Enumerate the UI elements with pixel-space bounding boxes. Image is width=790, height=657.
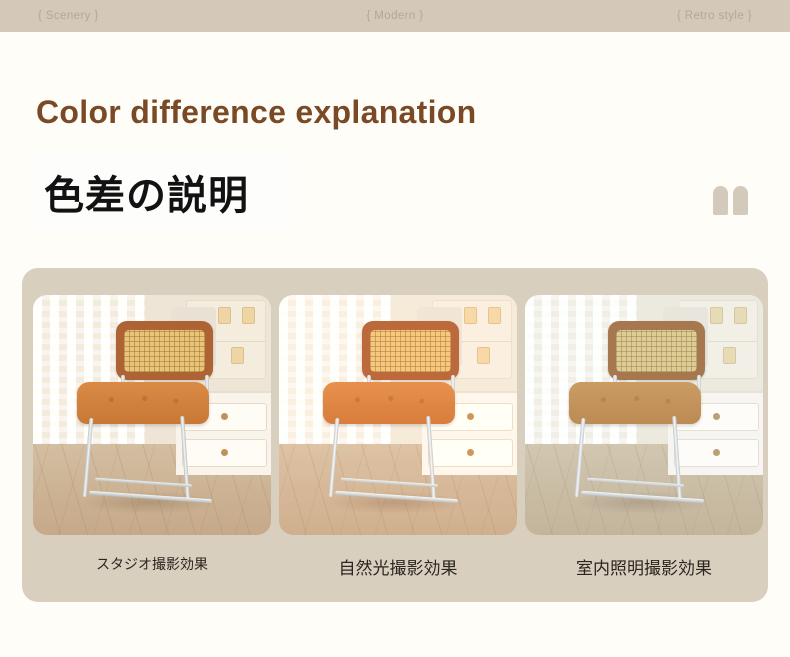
product-photo-studio[interactable] bbox=[33, 295, 271, 535]
product-photo-indoor-lighting[interactable] bbox=[525, 295, 763, 535]
photo-caption-natural-light: 自然光撮影効果 bbox=[279, 554, 517, 579]
product-chair bbox=[73, 321, 230, 518]
page-title-japanese: 色差の説明 bbox=[44, 163, 249, 221]
room-scene-illustration bbox=[525, 295, 763, 535]
scene-jar bbox=[231, 347, 244, 364]
product-chair bbox=[319, 321, 476, 518]
scene-jar bbox=[242, 307, 255, 324]
chair-rail-upper bbox=[587, 477, 684, 487]
chair-back-frame bbox=[362, 321, 459, 380]
chair-back-frame bbox=[116, 321, 213, 380]
comparison-item-studio: スタジオ撮影効果 bbox=[33, 295, 271, 579]
scene-jar bbox=[477, 347, 490, 364]
page-title-english: Color difference explanation bbox=[36, 94, 476, 131]
scene-jar bbox=[734, 307, 747, 324]
quote-mark-icon bbox=[713, 186, 748, 215]
top-category-scenery[interactable]: { Scenery } bbox=[38, 10, 99, 22]
top-category-bar: { Scenery } { Modern } { Retro style } bbox=[0, 0, 790, 32]
chair-leg-front bbox=[575, 418, 586, 497]
scene-jar bbox=[723, 347, 736, 364]
chair-seat bbox=[77, 382, 209, 423]
product-chair bbox=[565, 321, 722, 518]
chair-seat bbox=[323, 382, 455, 423]
top-category-modern[interactable]: { Modern } bbox=[366, 10, 423, 22]
chair-back-frame bbox=[608, 321, 705, 380]
chair-rail-upper bbox=[341, 477, 438, 487]
photo-caption-indoor-lighting: 室内照明撮影効果 bbox=[525, 554, 763, 579]
room-scene-illustration bbox=[33, 295, 271, 535]
chair-rattan-panel bbox=[124, 330, 206, 373]
product-photo-natural-light[interactable] bbox=[279, 295, 517, 535]
photo-caption-studio: スタジオ撮影効果 bbox=[33, 554, 271, 574]
scene-jar bbox=[488, 307, 501, 324]
quote-mark-bar-left bbox=[713, 186, 728, 215]
chair-rattan-panel bbox=[616, 330, 698, 373]
comparison-item-natural-light: 自然光撮影効果 bbox=[279, 295, 517, 579]
quote-mark-bar-right bbox=[733, 186, 748, 215]
chair-leg-front bbox=[329, 418, 340, 497]
top-category-retro-style[interactable]: { Retro style } bbox=[677, 10, 752, 22]
comparison-card: スタジオ撮影効果 bbox=[22, 268, 768, 602]
chair-rattan-panel bbox=[370, 330, 452, 373]
chair-rail-upper bbox=[95, 477, 192, 487]
chair-leg-front bbox=[83, 418, 94, 497]
room-scene-illustration bbox=[279, 295, 517, 535]
comparison-image-row: スタジオ撮影効果 bbox=[33, 295, 763, 579]
comparison-item-indoor-lighting: 室内照明撮影効果 bbox=[525, 295, 763, 579]
chair-seat bbox=[569, 382, 701, 423]
